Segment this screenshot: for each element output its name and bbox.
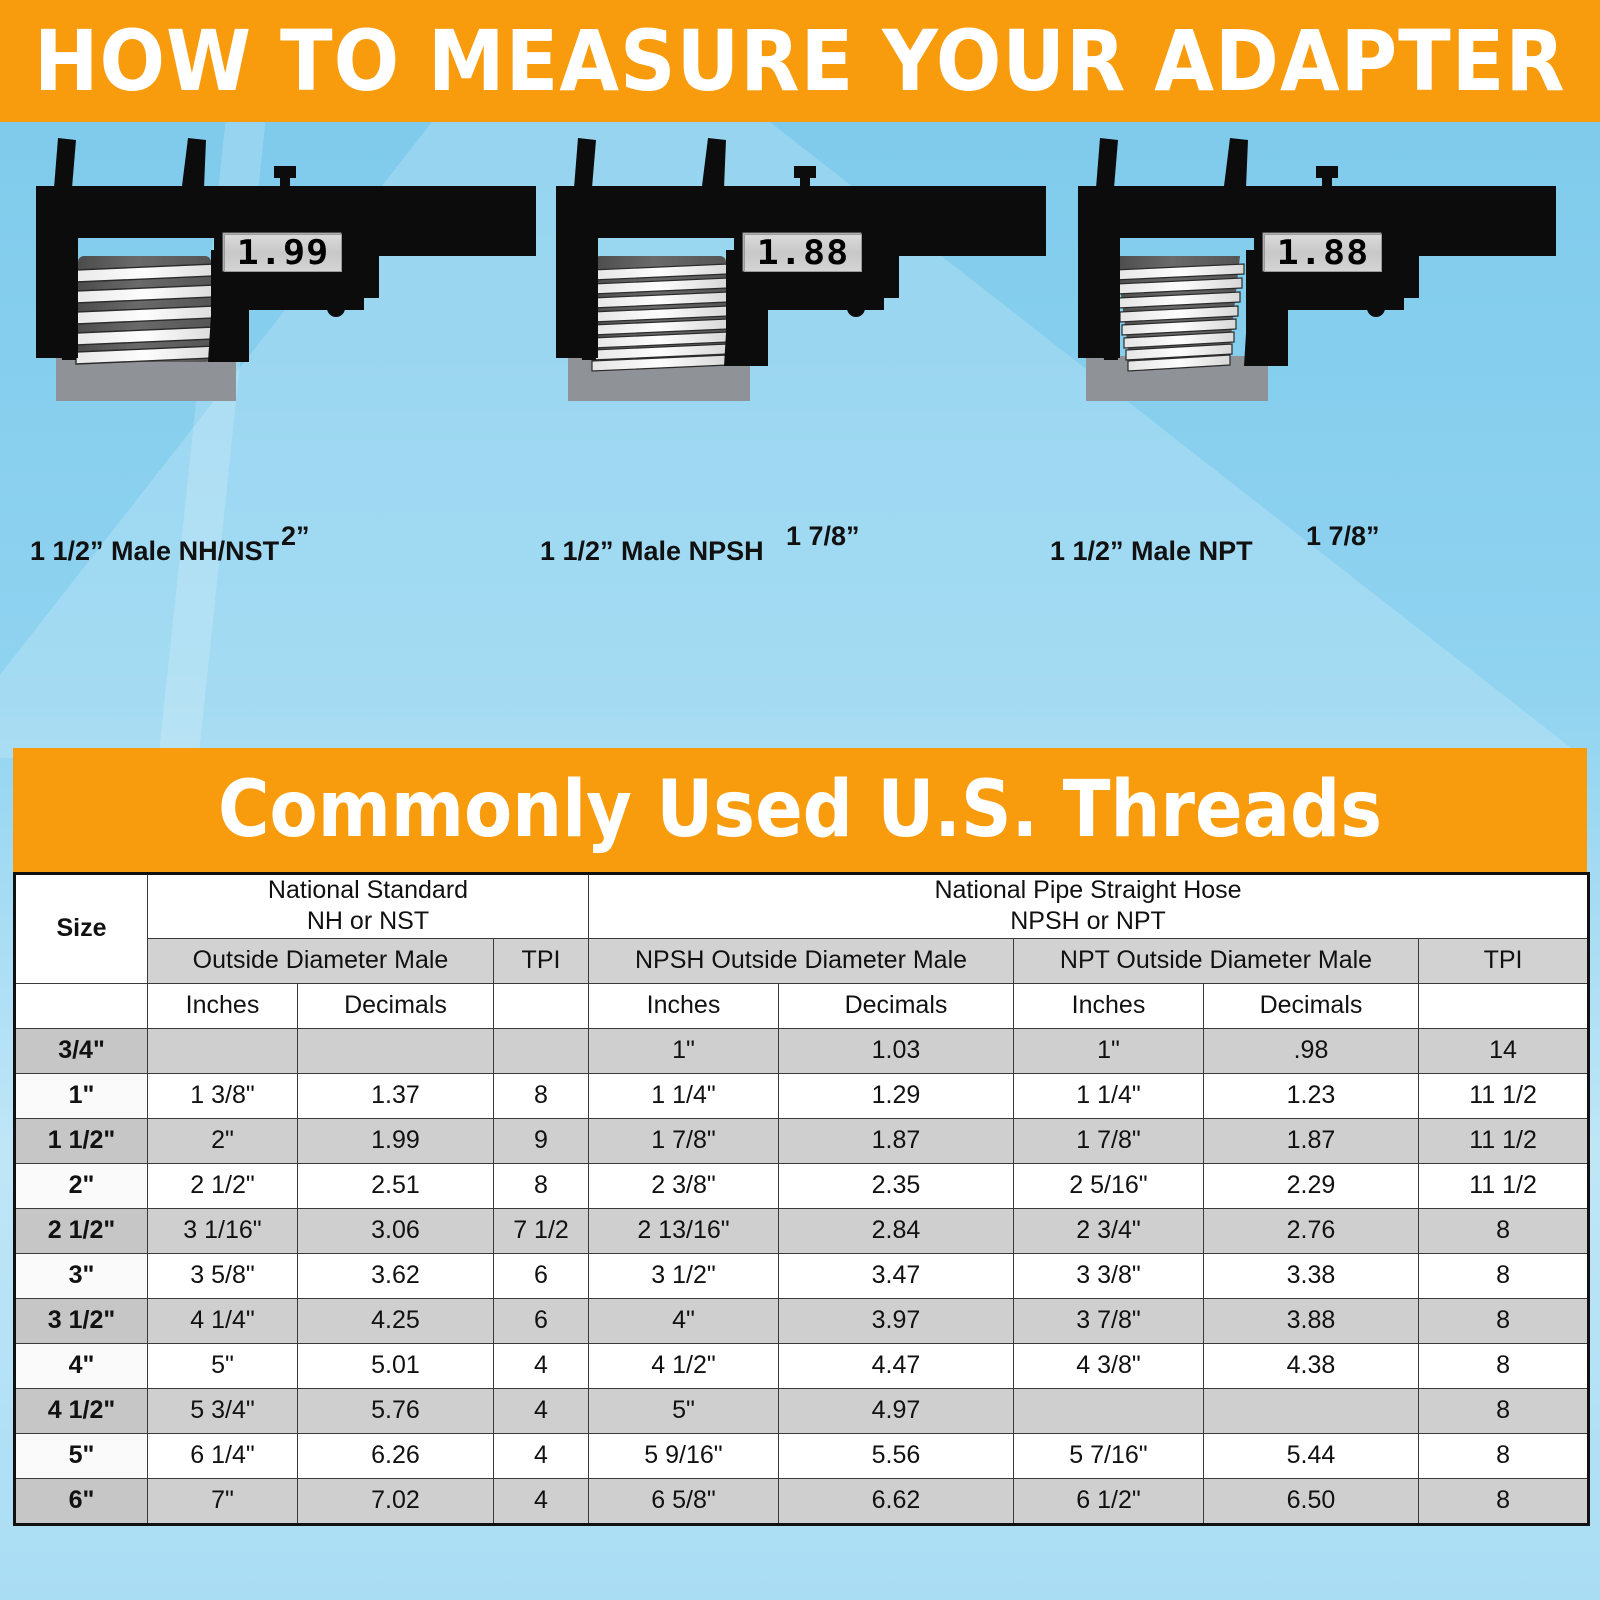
cell-npsh-inches: 4" bbox=[589, 1298, 779, 1343]
page-title: HOW TO MEASURE YOUR ADAPTER bbox=[34, 19, 1566, 103]
cell-nh-tpi: 4 bbox=[494, 1433, 589, 1478]
cell-npsh-decimals: 5.56 bbox=[779, 1433, 1014, 1478]
caliper-reading-label-2: 1 7/8” bbox=[786, 521, 860, 552]
table-row: 3" 3 5/8" 3.62 6 3 1/2" 3.47 3 3/8" 3.38… bbox=[15, 1253, 1589, 1298]
table-group-header-npsh-line1: National Pipe Straight Hose bbox=[589, 875, 1587, 906]
cell-npsh-inches: 2 13/16" bbox=[589, 1208, 779, 1253]
table-group-header-nh-line1: National Standard bbox=[148, 875, 588, 906]
table-row: 2" 2 1/2" 2.51 8 2 3/8" 2.35 2 5/16" 2.2… bbox=[15, 1163, 1589, 1208]
table-group-header-npsh-line2: NPSH or NPT bbox=[589, 906, 1587, 937]
table-subheader-row: Outside Diameter Male TPI NPSH Outside D… bbox=[15, 938, 1589, 983]
table-unit-nh-tpi bbox=[494, 983, 589, 1028]
table-row: 1" 1 3/8" 1.37 8 1 1/4" 1.29 1 1/4" 1.23… bbox=[15, 1073, 1589, 1118]
cell-nh-tpi: 4 bbox=[494, 1478, 589, 1524]
cell-nh-tpi: 6 bbox=[494, 1298, 589, 1343]
cell-npsh-decimals: 6.62 bbox=[779, 1478, 1014, 1524]
caliper-reading-label-3: 1 7/8” bbox=[1306, 521, 1380, 552]
cell-size: 2 1/2" bbox=[15, 1208, 148, 1253]
cell-npt-inches: 3 3/8" bbox=[1014, 1253, 1204, 1298]
cell-nh-inches: 6 1/4" bbox=[148, 1433, 298, 1478]
table-group-header-row: Size National Standard NH or NST Nationa… bbox=[15, 874, 1589, 939]
table-group-header-nh-line2: NH or NST bbox=[148, 906, 588, 937]
cell-npt-tpi: 8 bbox=[1419, 1388, 1589, 1433]
cell-size: 6" bbox=[15, 1478, 148, 1524]
table-row: 4" 5" 5.01 4 4 1/2" 4.47 4 3/8" 4.38 8 bbox=[15, 1343, 1589, 1388]
cell-nh-tpi: 8 bbox=[494, 1163, 589, 1208]
table-unit-npt-tpi bbox=[1419, 983, 1589, 1028]
cell-nh-tpi bbox=[494, 1028, 589, 1073]
cell-npt-decimals: 1.23 bbox=[1204, 1073, 1419, 1118]
cell-nh-tpi: 7 1/2 bbox=[494, 1208, 589, 1253]
cell-npsh-decimals: 1.29 bbox=[779, 1073, 1014, 1118]
cell-nh-decimals: 4.25 bbox=[298, 1298, 494, 1343]
caliper-figure-nh-nst: 1.99 2” 1 1/2” Male NH/NST bbox=[18, 128, 538, 588]
cell-nh-decimals bbox=[298, 1028, 494, 1073]
cell-npt-decimals: 6.50 bbox=[1204, 1478, 1419, 1524]
cell-npt-inches: 1 7/8" bbox=[1014, 1118, 1204, 1163]
caliper-caption-2: 1 1/2” Male NPSH bbox=[540, 536, 764, 567]
cell-npt-decimals bbox=[1204, 1388, 1419, 1433]
caliper-lcd-display-2: 1.88 bbox=[744, 234, 862, 272]
caliper-npt-drawing bbox=[1038, 128, 1558, 528]
cell-size: 3" bbox=[15, 1253, 148, 1298]
caliper-lcd-display-1: 1.99 bbox=[224, 234, 342, 272]
cell-size: 2" bbox=[15, 1163, 148, 1208]
table-subheader-npsh-od: NPSH Outside Diameter Male bbox=[589, 938, 1014, 983]
table-unit-size-blank bbox=[15, 983, 148, 1028]
cell-size: 1" bbox=[15, 1073, 148, 1118]
table-unit-nh-decimals: Decimals bbox=[298, 983, 494, 1028]
caliper-lcd-display-3: 1.88 bbox=[1264, 234, 1382, 272]
cell-npsh-decimals: 4.47 bbox=[779, 1343, 1014, 1388]
table-row: 5" 6 1/4" 6.26 4 5 9/16" 5.56 5 7/16" 5.… bbox=[15, 1433, 1589, 1478]
cell-npt-tpi: 11 1/2 bbox=[1419, 1073, 1589, 1118]
cell-npt-tpi: 8 bbox=[1419, 1298, 1589, 1343]
cell-npsh-decimals: 2.84 bbox=[779, 1208, 1014, 1253]
cell-nh-tpi: 6 bbox=[494, 1253, 589, 1298]
table-row: 3/4" 1" 1.03 1" .98 14 bbox=[15, 1028, 1589, 1073]
cell-nh-inches: 5 3/4" bbox=[148, 1388, 298, 1433]
table-unit-npsh-decimals: Decimals bbox=[779, 983, 1014, 1028]
caliper-illustration-group: 1.99 2” 1 1/2” Male NH/NST bbox=[0, 128, 1600, 588]
cell-size: 3 1/2" bbox=[15, 1298, 148, 1343]
table-subheader-nh-od: Outside Diameter Male bbox=[148, 938, 494, 983]
caliper-figure-npsh: 1.88 1 7/8” 1 1/2” Male NPSH bbox=[528, 128, 1048, 588]
cell-npt-inches: 6 1/2" bbox=[1014, 1478, 1204, 1524]
cell-npt-decimals: 2.29 bbox=[1204, 1163, 1419, 1208]
caliper-nh-nst-drawing bbox=[18, 128, 538, 528]
cell-npsh-inches: 4 1/2" bbox=[589, 1343, 779, 1388]
table-unit-npsh-inches: Inches bbox=[589, 983, 779, 1028]
table-size-header: Size bbox=[15, 874, 148, 984]
cell-npsh-inches: 5" bbox=[589, 1388, 779, 1433]
cell-size: 4 1/2" bbox=[15, 1388, 148, 1433]
table-row: 3 1/2" 4 1/4" 4.25 6 4" 3.97 3 7/8" 3.88… bbox=[15, 1298, 1589, 1343]
caliper-lcd-value-2: 1.88 bbox=[757, 236, 850, 270]
caliper-caption-3: 1 1/2” Male NPT bbox=[1050, 536, 1253, 567]
cell-npt-inches: 3 7/8" bbox=[1014, 1298, 1204, 1343]
cell-npsh-decimals: 1.87 bbox=[779, 1118, 1014, 1163]
cell-nh-decimals: 5.01 bbox=[298, 1343, 494, 1388]
cell-npt-tpi: 8 bbox=[1419, 1208, 1589, 1253]
cell-npt-inches: 4 3/8" bbox=[1014, 1343, 1204, 1388]
table-row: 2 1/2" 3 1/16" 3.06 7 1/2 2 13/16" 2.84 … bbox=[15, 1208, 1589, 1253]
caliper-caption-1: 1 1/2” Male NH/NST bbox=[30, 536, 279, 567]
cell-npt-tpi: 8 bbox=[1419, 1478, 1589, 1524]
threads-table-container: Size National Standard NH or NST Nationa… bbox=[13, 872, 1587, 1526]
caliper-lcd-value-3: 1.88 bbox=[1277, 236, 1370, 270]
caliper-lcd-value-1: 1.99 bbox=[237, 236, 330, 270]
cell-nh-decimals: 5.76 bbox=[298, 1388, 494, 1433]
cell-npsh-decimals: 4.97 bbox=[779, 1388, 1014, 1433]
threads-table: Size National Standard NH or NST Nationa… bbox=[13, 872, 1590, 1526]
cell-nh-tpi: 9 bbox=[494, 1118, 589, 1163]
table-group-header-nh: National Standard NH or NST bbox=[148, 874, 589, 939]
table-unit-npt-decimals: Decimals bbox=[1204, 983, 1419, 1028]
table-unit-nh-inches: Inches bbox=[148, 983, 298, 1028]
infographic-page: HOW TO MEASURE YOUR ADAPTER bbox=[0, 0, 1600, 1600]
cell-nh-inches: 3 5/8" bbox=[148, 1253, 298, 1298]
cell-npt-decimals: 5.44 bbox=[1204, 1433, 1419, 1478]
cell-nh-inches: 1 3/8" bbox=[148, 1073, 298, 1118]
caliper-figure-npt: 1.88 1 7/8” 1 1/2” Male NPT bbox=[1038, 128, 1558, 588]
cell-nh-inches: 5" bbox=[148, 1343, 298, 1388]
cell-npsh-inches: 1" bbox=[589, 1028, 779, 1073]
cell-npsh-inches: 6 5/8" bbox=[589, 1478, 779, 1524]
cell-npt-decimals: 1.87 bbox=[1204, 1118, 1419, 1163]
cell-nh-decimals: 2.51 bbox=[298, 1163, 494, 1208]
cell-npsh-inches: 5 9/16" bbox=[589, 1433, 779, 1478]
cell-nh-decimals: 3.62 bbox=[298, 1253, 494, 1298]
table-section-title: Commonly Used U.S. Threads bbox=[218, 771, 1382, 849]
table-subheader-npt-od: NPT Outside Diameter Male bbox=[1014, 938, 1419, 983]
cell-nh-inches: 3 1/16" bbox=[148, 1208, 298, 1253]
cell-npt-tpi: 8 bbox=[1419, 1343, 1589, 1388]
cell-npt-inches: 2 5/16" bbox=[1014, 1163, 1204, 1208]
cell-npt-decimals: 3.38 bbox=[1204, 1253, 1419, 1298]
cell-npt-inches: 1" bbox=[1014, 1028, 1204, 1073]
table-unit-npt-inches: Inches bbox=[1014, 983, 1204, 1028]
page-header-banner: HOW TO MEASURE YOUR ADAPTER bbox=[0, 0, 1600, 122]
cell-nh-decimals: 6.26 bbox=[298, 1433, 494, 1478]
cell-npt-inches: 1 1/4" bbox=[1014, 1073, 1204, 1118]
cell-npt-decimals: 3.88 bbox=[1204, 1298, 1419, 1343]
cell-nh-tpi: 4 bbox=[494, 1343, 589, 1388]
caliper-npsh-drawing bbox=[528, 128, 1048, 528]
cell-nh-decimals: 1.99 bbox=[298, 1118, 494, 1163]
table-row: 4 1/2" 5 3/4" 5.76 4 5" 4.97 8 bbox=[15, 1388, 1589, 1433]
cell-nh-inches: 7" bbox=[148, 1478, 298, 1524]
cell-nh-inches: 2" bbox=[148, 1118, 298, 1163]
table-group-header-npsh-npt: National Pipe Straight Hose NPSH or NPT bbox=[589, 874, 1589, 939]
table-subheader-npt-tpi: TPI bbox=[1419, 938, 1589, 983]
table-subheader-nh-tpi: TPI bbox=[494, 938, 589, 983]
cell-npt-decimals: .98 bbox=[1204, 1028, 1419, 1073]
caliper-reading-label-1: 2” bbox=[281, 521, 310, 552]
cell-npt-decimals: 4.38 bbox=[1204, 1343, 1419, 1388]
cell-nh-inches: 2 1/2" bbox=[148, 1163, 298, 1208]
cell-size: 1 1/2" bbox=[15, 1118, 148, 1163]
cell-npt-tpi: 8 bbox=[1419, 1433, 1589, 1478]
cell-npsh-decimals: 2.35 bbox=[779, 1163, 1014, 1208]
cell-nh-inches: 4 1/4" bbox=[148, 1298, 298, 1343]
cell-npsh-inches: 3 1/2" bbox=[589, 1253, 779, 1298]
cell-nh-tpi: 8 bbox=[494, 1073, 589, 1118]
cell-size: 4" bbox=[15, 1343, 148, 1388]
cell-npt-tpi: 14 bbox=[1419, 1028, 1589, 1073]
table-row: 6" 7" 7.02 4 6 5/8" 6.62 6 1/2" 6.50 8 bbox=[15, 1478, 1589, 1524]
cell-npt-inches bbox=[1014, 1388, 1204, 1433]
cell-npsh-decimals: 3.47 bbox=[779, 1253, 1014, 1298]
cell-npt-inches: 2 3/4" bbox=[1014, 1208, 1204, 1253]
cell-nh-decimals: 3.06 bbox=[298, 1208, 494, 1253]
cell-size: 5" bbox=[15, 1433, 148, 1478]
cell-npsh-inches: 2 3/8" bbox=[589, 1163, 779, 1208]
cell-npsh-decimals: 3.97 bbox=[779, 1298, 1014, 1343]
cell-npt-decimals: 2.76 bbox=[1204, 1208, 1419, 1253]
cell-nh-inches bbox=[148, 1028, 298, 1073]
cell-npsh-decimals: 1.03 bbox=[779, 1028, 1014, 1073]
cell-nh-tpi: 4 bbox=[494, 1388, 589, 1433]
cell-npsh-inches: 1 1/4" bbox=[589, 1073, 779, 1118]
cell-npt-inches: 5 7/16" bbox=[1014, 1433, 1204, 1478]
cell-npt-tpi: 11 1/2 bbox=[1419, 1163, 1589, 1208]
cell-npsh-inches: 1 7/8" bbox=[589, 1118, 779, 1163]
cell-nh-decimals: 1.37 bbox=[298, 1073, 494, 1118]
table-row: 1 1/2" 2" 1.99 9 1 7/8" 1.87 1 7/8" 1.87… bbox=[15, 1118, 1589, 1163]
table-unit-header-row: Inches Decimals Inches Decimals Inches D… bbox=[15, 983, 1589, 1028]
cell-npt-tpi: 8 bbox=[1419, 1253, 1589, 1298]
table-section-banner: Commonly Used U.S. Threads bbox=[13, 748, 1587, 872]
cell-npt-tpi: 11 1/2 bbox=[1419, 1118, 1589, 1163]
cell-size: 3/4" bbox=[15, 1028, 148, 1073]
cell-nh-decimals: 7.02 bbox=[298, 1478, 494, 1524]
